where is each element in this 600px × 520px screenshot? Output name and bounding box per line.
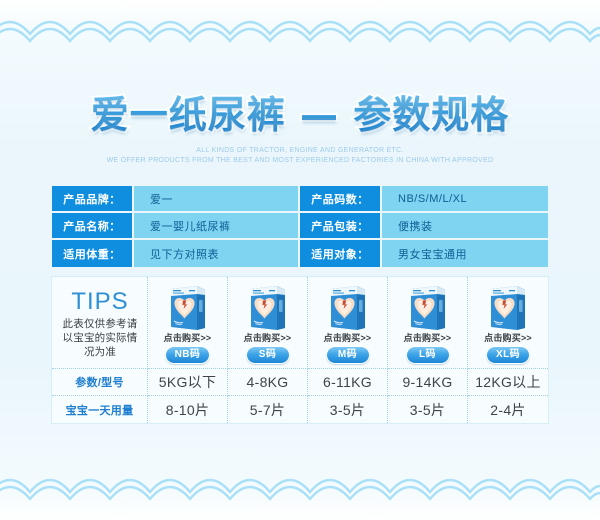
weight-value-m: 6-11KG (308, 369, 388, 396)
weight-value-s: 4-8KG (228, 369, 308, 396)
spec-value-target-user: 男女宝宝通用 (382, 240, 548, 267)
buy-link-m[interactable]: 点击购买>> (324, 333, 372, 344)
spec-value-packaging: 便携装 (382, 213, 548, 240)
table-row: 产品品牌： 爱一 产品码数： NB/S/M/L/XL (52, 186, 548, 213)
tips-title: TIPS (60, 289, 140, 315)
usage-value-nb: 8-10片 (148, 396, 228, 423)
buy-link-nb[interactable]: 点击购买>> (164, 333, 212, 344)
spec-value-brand: 爱一 (134, 186, 300, 213)
size-badge-m[interactable]: M码 (326, 346, 370, 364)
wave-border-bottom-decoration (0, 470, 600, 504)
page-subtitle-line-2: WE OFFER PRODUCTS FROM THE BEST AND MOST… (0, 156, 600, 166)
page-subtitle-line-1: ALL KINDS OF TRACTOR, ENGINE AND GENERAT… (0, 146, 600, 156)
buy-link-s[interactable]: 点击购买>> (244, 333, 292, 344)
row-header-daily-usage: 宝宝一天用量 (52, 396, 148, 423)
size-badge-nb[interactable]: NB码 (165, 346, 211, 364)
spec-value-product-name: 爱一婴儿纸尿裤 (134, 213, 300, 240)
product-cell-s[interactable]: 点击购买>> S码 (228, 277, 308, 369)
size-badge-xl[interactable]: XL码 (486, 346, 530, 364)
product-cell-nb[interactable]: 点击购买>> NB码 (148, 277, 228, 369)
weight-value-nb: 5KG以下 (148, 369, 228, 396)
product-spec-page: 爱一纸尿裤 — 参数规格 爱一纸尿裤 — 参数规格 ALL KINDS OF T… (0, 0, 600, 520)
row-header-parameter-model: 参数/型号 (52, 369, 148, 396)
weight-value-l: 9-14KG (388, 369, 468, 396)
buy-link-l[interactable]: 点击购买>> (404, 333, 452, 344)
spec-label-target-user: 适用对象： (300, 240, 382, 267)
usage-value-xl: 2-4片 (468, 396, 548, 423)
page-subtitle: ALL KINDS OF TRACTOR, ENGINE AND GENERAT… (0, 146, 600, 166)
diaper-package-icon (167, 283, 209, 331)
spec-label-packaging: 产品包装： (300, 213, 382, 240)
diaper-package-icon (247, 283, 289, 331)
spec-label-weight-range: 适用体重： (52, 240, 134, 267)
diaper-package-icon (407, 283, 449, 331)
product-cell-l[interactable]: 点击购买>> L码 (388, 277, 468, 369)
size-badge-l[interactable]: L码 (406, 346, 450, 364)
weight-row: 参数/型号 5KG以下 4-8KG 6-11KG 9-14KG 12KG以上 (52, 369, 548, 396)
buy-link-xl[interactable]: 点击购买>> (484, 333, 532, 344)
tips-cell: TIPS 此表仅供参考请以宝宝的实际情况为准 (52, 277, 148, 369)
weight-value-xl: 12KG以上 (468, 369, 548, 396)
size-comparison-table: TIPS 此表仅供参考请以宝宝的实际情况为准 (52, 277, 548, 423)
usage-value-s: 5-7片 (228, 396, 308, 423)
spec-label-brand: 产品品牌： (52, 186, 134, 213)
product-row: TIPS 此表仅供参考请以宝宝的实际情况为准 (52, 277, 548, 369)
product-cell-m[interactable]: 点击购买>> M码 (308, 277, 388, 369)
table-row: 产品名称： 爱一婴儿纸尿裤 产品包装： 便携装 (52, 213, 548, 240)
usage-value-l: 3-5片 (388, 396, 468, 423)
usage-value-m: 3-5片 (308, 396, 388, 423)
page-title: 爱一纸尿裤 — 参数规格 (91, 92, 509, 138)
diaper-package-icon (327, 283, 369, 331)
spec-label-product-name: 产品名称： (52, 213, 134, 240)
diaper-package-icon (487, 283, 529, 331)
size-badge-s[interactable]: S码 (246, 346, 290, 364)
spec-label-sizes: 产品码数： (300, 186, 382, 213)
spec-value-sizes: NB/S/M/L/XL (382, 186, 548, 213)
daily-usage-row: 宝宝一天用量 8-10片 5-7片 3-5片 3-5片 2-4片 (52, 396, 548, 423)
wave-border-top-decoration (0, 12, 600, 46)
table-row: 适用体重： 见下方对照表 适用对象： 男女宝宝通用 (52, 240, 548, 267)
spec-value-weight-range: 见下方对照表 (134, 240, 300, 267)
specification-table: 产品品牌： 爱一 产品码数： NB/S/M/L/XL 产品名称： 爱一婴儿纸尿裤… (52, 186, 548, 267)
tips-text: 此表仅供参考请以宝宝的实际情况为准 (60, 317, 140, 359)
product-cell-xl[interactable]: 点击购买>> XL码 (468, 277, 548, 369)
page-title-block: 爱一纸尿裤 — 参数规格 ALL KINDS OF TRACTOR, ENGIN… (0, 92, 600, 166)
